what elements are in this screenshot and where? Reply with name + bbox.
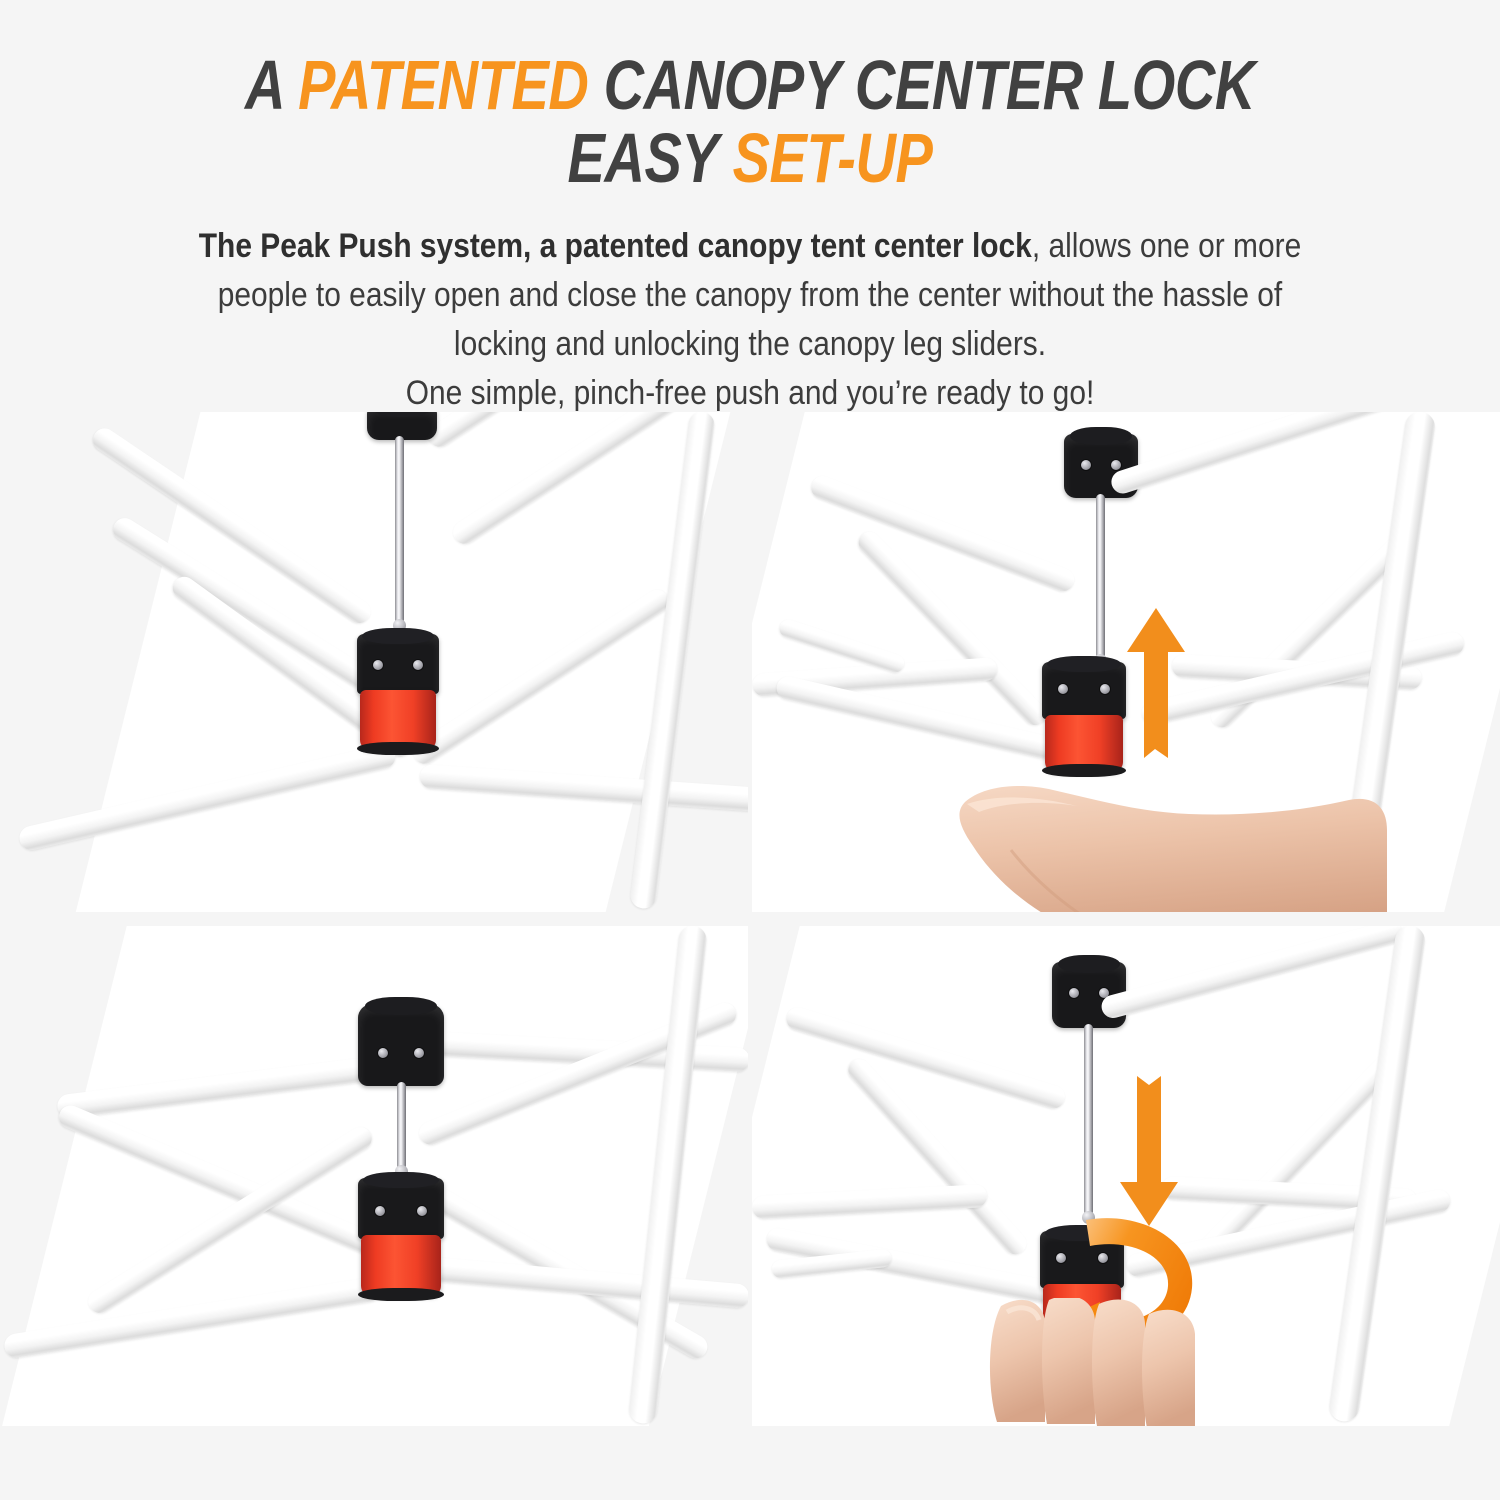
hub-bolt-icon (417, 1206, 427, 1216)
center-lock-red-grip (361, 1235, 440, 1296)
headline-seg-5-accent: SET-UP (733, 119, 933, 197)
page-title: A PATENTED CANOPY CENTER LOCK EASY SET-U… (206, 52, 1294, 192)
description-paragraph: The Peak Push system, a patented canopy … (174, 222, 1327, 418)
push-rod (1096, 494, 1105, 659)
hub-bolt-icon (375, 1206, 385, 1216)
headline-seg-3: CANOPY CENTER LOCK (588, 46, 1255, 124)
headline-seg-1: A (245, 46, 298, 124)
arrow-down-icon (1120, 1076, 1178, 1226)
panel-twist-release (752, 926, 1500, 1426)
grip-hand-icon (987, 1298, 1217, 1426)
headline-line-1: A PATENTED CANOPY CENTER LOCK (206, 52, 1294, 119)
push-rod (1084, 1024, 1093, 1216)
push-rod (395, 436, 404, 624)
headline-line-2: EASY SET-UP (206, 125, 1294, 192)
photo-panel-grid (0, 412, 1500, 1500)
peak-hub (358, 1004, 444, 1086)
hub-bolt-icon (378, 1048, 388, 1058)
description-final-line: One simple, pinch-free push and you’re r… (406, 374, 1095, 412)
infographic-page: A PATENTED CANOPY CENTER LOCK EASY SET-U… (0, 0, 1500, 1500)
center-lock-red-grip (360, 690, 435, 750)
push-rod (397, 1082, 406, 1170)
headline-seg-4: EASY (568, 119, 733, 197)
hub-bolt-icon (414, 1048, 424, 1058)
panel-row-bottom (0, 926, 1500, 1426)
hub-bolt-icon (1069, 988, 1079, 998)
hub-bolt-icon (1111, 460, 1121, 470)
center-lock-red-grip (1045, 715, 1122, 772)
center-lock-hub (358, 1178, 444, 1239)
hub-bolt-icon (1100, 684, 1110, 694)
arrow-up-icon (1127, 608, 1185, 758)
hub-bolt-icon (1081, 460, 1091, 470)
headline-seg-2-accent: PATENTED (298, 46, 588, 124)
center-lock-slider (358, 1178, 444, 1296)
panel-row-top (0, 412, 1500, 912)
description-lead: The Peak Push system, a patented canopy … (199, 227, 1032, 265)
center-lock-hub (1042, 662, 1126, 719)
hub-bolt-icon (413, 660, 423, 670)
panel-frame-locked (0, 926, 748, 1426)
header-section: A PATENTED CANOPY CENTER LOCK EASY SET-U… (0, 0, 1500, 418)
center-lock-slider (357, 634, 439, 750)
hub-bolt-icon (373, 660, 383, 670)
panel-frame-collapsed (0, 412, 748, 912)
panel-push-up (752, 412, 1500, 912)
center-lock-slider (1042, 662, 1126, 772)
hub-bolt-icon (1058, 684, 1068, 694)
center-lock-hub (357, 634, 439, 694)
